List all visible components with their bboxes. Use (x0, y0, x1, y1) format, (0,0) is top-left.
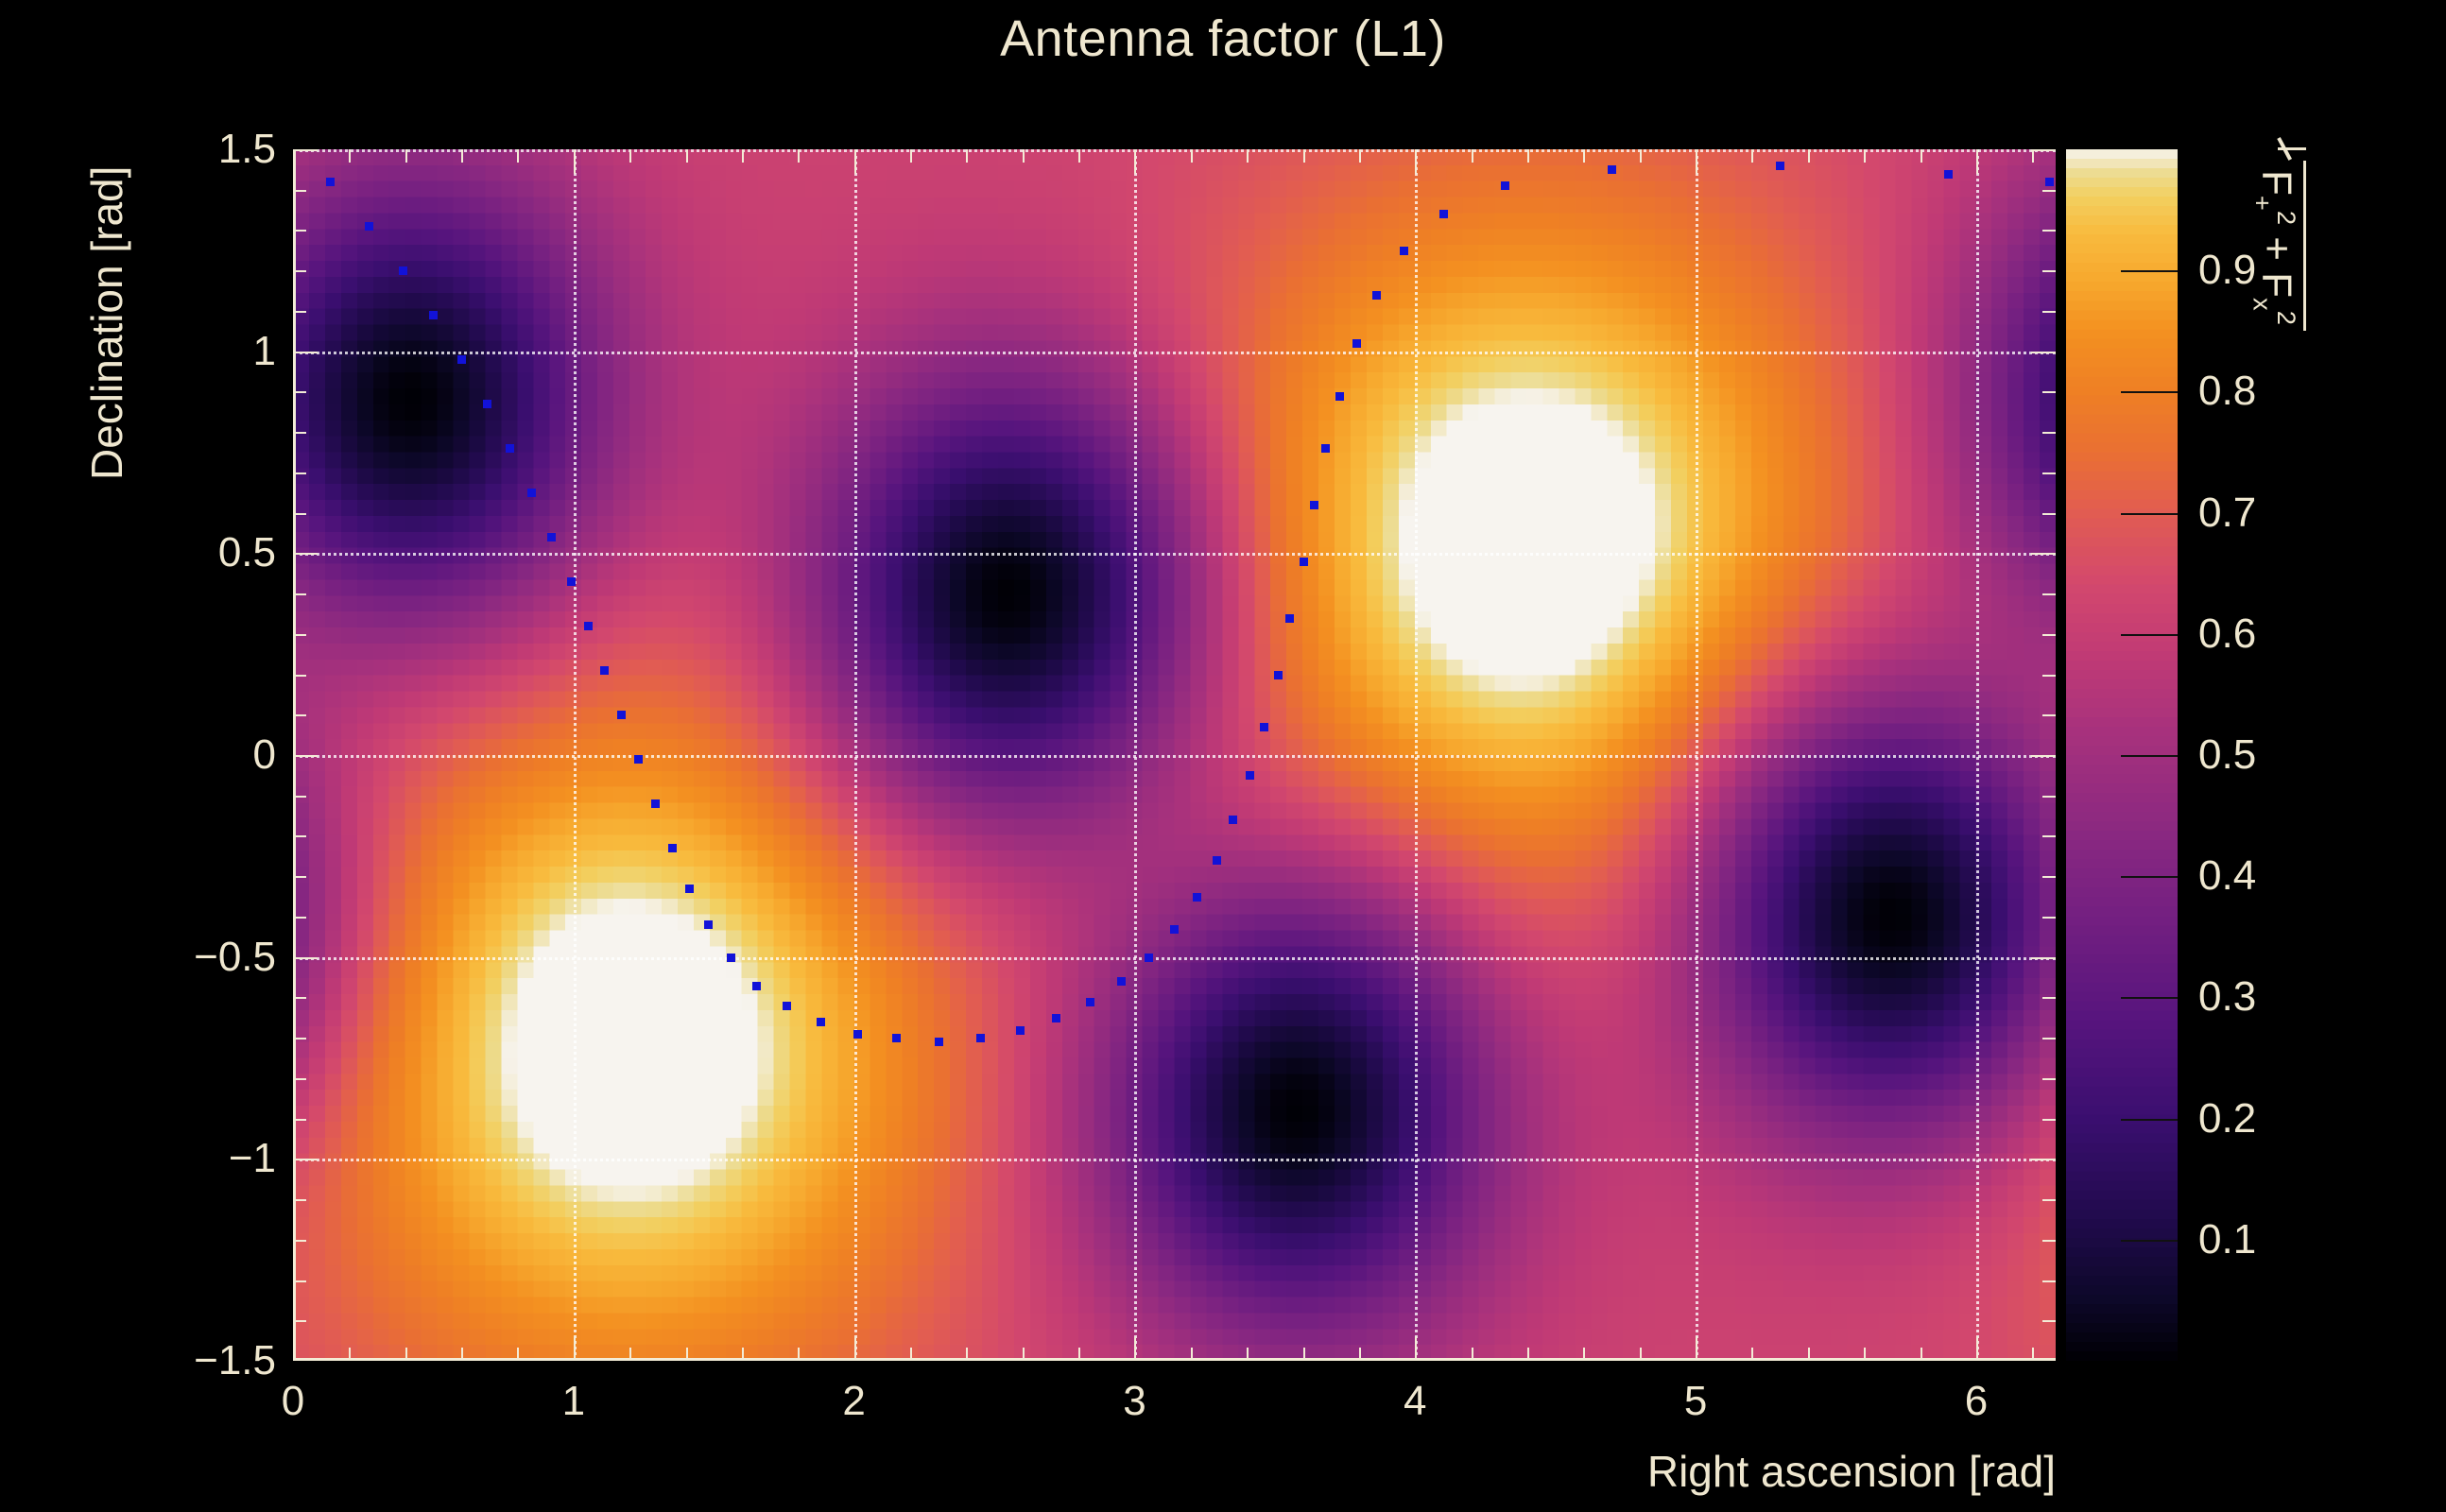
y-axis-tick-label: 0.5 (218, 529, 276, 576)
y-major-tick-right (2031, 1159, 2056, 1160)
track-marker (1117, 977, 1126, 986)
track-marker (584, 622, 593, 630)
track-marker (1501, 181, 1509, 190)
y-minor-tick-right (2042, 835, 2056, 837)
y-minor-tick-right (2042, 311, 2056, 313)
track-marker (2045, 178, 2054, 186)
x-minor-tick-top (1359, 149, 1361, 163)
x-minor-tick-top (798, 149, 800, 163)
y-axis-tick-label: −0.5 (194, 934, 276, 981)
track-marker (1274, 671, 1283, 679)
z-pow-1: 2 (2272, 211, 2301, 225)
x-minor-tick-top (405, 149, 407, 163)
colorbar-tick-label: 0.5 (2198, 731, 2256, 779)
colorbar-tick (2121, 634, 2178, 636)
y-major-tick-right (2031, 553, 2056, 555)
y-minor-tick-right (2042, 391, 2056, 393)
track-marker (668, 844, 677, 852)
colorbar-tick (2121, 755, 2178, 757)
x-minor-tick-top (349, 149, 351, 163)
track-marker (1193, 893, 1201, 902)
y-minor-tick-right (2042, 1038, 2056, 1039)
x-minor-tick-top (1472, 149, 1473, 163)
y-major-tick (293, 553, 318, 555)
track-marker (853, 1030, 862, 1039)
track-marker (783, 1002, 791, 1010)
z-sub-x: x (2248, 298, 2278, 311)
y-minor-tick-right (2042, 1320, 2056, 1322)
z-plus: + (2253, 236, 2300, 261)
colorbar-tick (2121, 1240, 2178, 1242)
heatmap-frame (293, 149, 2056, 1361)
gridline-horizontal (293, 1159, 2056, 1161)
x-minor-tick-top (686, 149, 688, 163)
x-minor-tick-top (629, 149, 631, 163)
track-marker (1170, 925, 1179, 934)
y-major-tick-right (2031, 149, 2056, 151)
x-minor-tick-top (1527, 149, 1529, 163)
page-title: Antenna factor (L1) (0, 9, 2446, 68)
y-axis-tick-label: 0 (253, 731, 276, 779)
track-marker (1016, 1026, 1025, 1035)
track-marker (527, 489, 536, 497)
radical-sign: F+2 + Fx2 (2248, 161, 2306, 331)
x-minor-tick-top (910, 149, 912, 163)
colorbar-tick (2121, 270, 2178, 272)
track-marker (1372, 291, 1381, 300)
track-marker (752, 982, 761, 990)
colorbar-tick-label: 0.6 (2198, 610, 2256, 658)
x-minor-tick-top (1303, 149, 1305, 163)
track-marker (1246, 771, 1254, 780)
track-marker (1352, 339, 1361, 348)
colorbar-tick (2121, 997, 2178, 999)
track-marker (1145, 954, 1153, 962)
colorbar-tick-label: 0.3 (2198, 973, 2256, 1021)
x-major-tick-top (1976, 149, 1978, 174)
y-major-tick (293, 957, 318, 959)
gridline-horizontal (293, 957, 2056, 960)
track-marker (1776, 162, 1784, 170)
colorbar-tick (2121, 1119, 2178, 1121)
x-minor-tick-top (1583, 149, 1585, 163)
track-marker (1608, 165, 1616, 174)
x-minor-tick-top (1023, 149, 1025, 163)
track-marker (326, 178, 335, 186)
y-minor-tick-right (2042, 593, 2056, 595)
track-marker (685, 885, 694, 893)
track-marker (1400, 247, 1408, 255)
y-minor-tick-right (2042, 796, 2056, 798)
colorbar-tick (2121, 876, 2178, 878)
x-axis-line (293, 1358, 2056, 1361)
y-minor-tick-right (2042, 876, 2056, 878)
y-minor-tick-right (2042, 270, 2056, 272)
x-minor-tick-top (461, 149, 463, 163)
track-marker (1086, 998, 1094, 1006)
colorbar-tick-label: 0.8 (2198, 368, 2256, 415)
gridline-horizontal (293, 553, 2056, 556)
gridline-horizontal (293, 149, 2056, 152)
y-minor-tick-right (2042, 472, 2056, 474)
colorbar-tick-label: 0.4 (2198, 852, 2256, 900)
track-marker (1052, 1014, 1060, 1022)
y-major-tick (293, 352, 318, 353)
colorbar-tick (2121, 513, 2178, 515)
track-marker (506, 444, 514, 453)
y-major-tick (293, 1159, 318, 1160)
y-major-tick (293, 755, 318, 757)
track-marker (399, 266, 407, 275)
track-marker (1229, 816, 1237, 824)
x-minor-tick-top (1751, 149, 1753, 163)
z-pow-2: 2 (2272, 311, 2301, 325)
track-marker (600, 666, 609, 675)
colorbar-tick-label: 0.7 (2198, 490, 2256, 537)
track-marker (976, 1034, 985, 1042)
track-marker (727, 954, 735, 962)
x-major-tick-top (1696, 149, 1697, 174)
y-axis-tick-label: 1.5 (218, 126, 276, 173)
y-major-tick-right (2031, 755, 2056, 757)
track-marker (935, 1038, 943, 1046)
track-marker (365, 222, 373, 231)
y-axis-tick-label: −1 (229, 1135, 276, 1182)
y-minor-tick-right (2042, 917, 2056, 919)
y-axis-tick-label: −1.5 (194, 1337, 276, 1384)
track-marker (1285, 614, 1294, 623)
track-marker (892, 1034, 901, 1042)
x-minor-tick-top (1864, 149, 1866, 163)
y-axis-line (293, 149, 296, 1361)
track-marker (567, 577, 576, 586)
y-minor-tick-right (2042, 634, 2056, 636)
x-major-tick-top (574, 149, 576, 174)
y-minor-tick-right (2042, 1280, 2056, 1282)
y-axis-tick-label: 1 (253, 328, 276, 375)
y-minor-tick-right (2042, 675, 2056, 677)
y-axis-title: Declination [rad] (81, 166, 132, 480)
y-major-tick-right (2031, 957, 2056, 959)
x-axis-tick-label: 5 (1684, 1378, 1707, 1425)
x-axis-title: Right ascension [rad] (1647, 1446, 2056, 1497)
x-major-tick-top (1415, 149, 1417, 174)
x-minor-tick-top (1640, 149, 1642, 163)
y-minor-tick-right (2042, 1240, 2056, 1242)
track-marker (817, 1018, 825, 1026)
x-axis-tick-label: 3 (1123, 1378, 1145, 1425)
y-minor-tick-right (2042, 230, 2056, 232)
x-axis-tick-label: 1 (562, 1378, 585, 1425)
track-marker (651, 799, 660, 808)
z-sub-plus: + (2248, 196, 2278, 211)
gridline-horizontal (293, 755, 2056, 758)
track-marker (429, 311, 438, 319)
x-minor-tick-top (1808, 149, 1810, 163)
x-minor-tick-top (1247, 149, 1249, 163)
y-major-tick-right (2031, 352, 2056, 353)
track-marker (1213, 856, 1221, 865)
x-major-tick-top (854, 149, 856, 174)
track-marker (547, 533, 556, 541)
y-minor-tick-right (2042, 714, 2056, 716)
track-marker (1260, 723, 1268, 731)
track-marker (1439, 210, 1448, 218)
track-marker (1321, 444, 1330, 453)
colorbar-tick (2121, 391, 2178, 393)
track-marker (704, 920, 713, 929)
x-axis-tick-label: 2 (842, 1378, 865, 1425)
x-minor-tick-top (1078, 149, 1080, 163)
x-minor-tick-top (742, 149, 744, 163)
track-marker (617, 711, 626, 719)
x-minor-tick-top (2032, 149, 2034, 163)
y-major-tick (293, 149, 318, 151)
x-axis-tick-label: 4 (1404, 1378, 1426, 1425)
gridline-horizontal (293, 352, 2056, 354)
plot-canvas: Antenna factor (L1) 01234561.510.50−0.5−… (0, 0, 2446, 1512)
y-minor-tick-right (2042, 190, 2056, 192)
track-marker (483, 400, 491, 408)
track-marker (1310, 501, 1318, 509)
y-minor-tick-right (2042, 432, 2056, 434)
track-marker (1300, 558, 1308, 566)
y-minor-tick-right (2042, 513, 2056, 515)
colorbar-title: F+2 + Fx2 (2248, 161, 2306, 331)
track-marker (1335, 392, 1344, 401)
colorbar-tick-label: 0.2 (2198, 1095, 2256, 1143)
x-axis-tick-label: 0 (282, 1378, 304, 1425)
x-minor-tick-top (517, 149, 519, 163)
y-minor-tick-right (2042, 997, 2056, 999)
track-marker (634, 755, 643, 764)
x-major-tick-top (1134, 149, 1136, 174)
y-minor-tick-right (2042, 1199, 2056, 1201)
colorbar-tick-label: 0.1 (2198, 1216, 2256, 1263)
y-minor-tick-right (2042, 1119, 2056, 1121)
x-minor-tick-top (1191, 149, 1193, 163)
x-minor-tick-top (1921, 149, 1922, 163)
x-axis-tick-label: 6 (1965, 1378, 1988, 1425)
y-minor-tick-right (2042, 1078, 2056, 1080)
x-minor-tick-top (966, 149, 968, 163)
track-marker (457, 355, 466, 364)
track-marker (1944, 170, 1953, 179)
